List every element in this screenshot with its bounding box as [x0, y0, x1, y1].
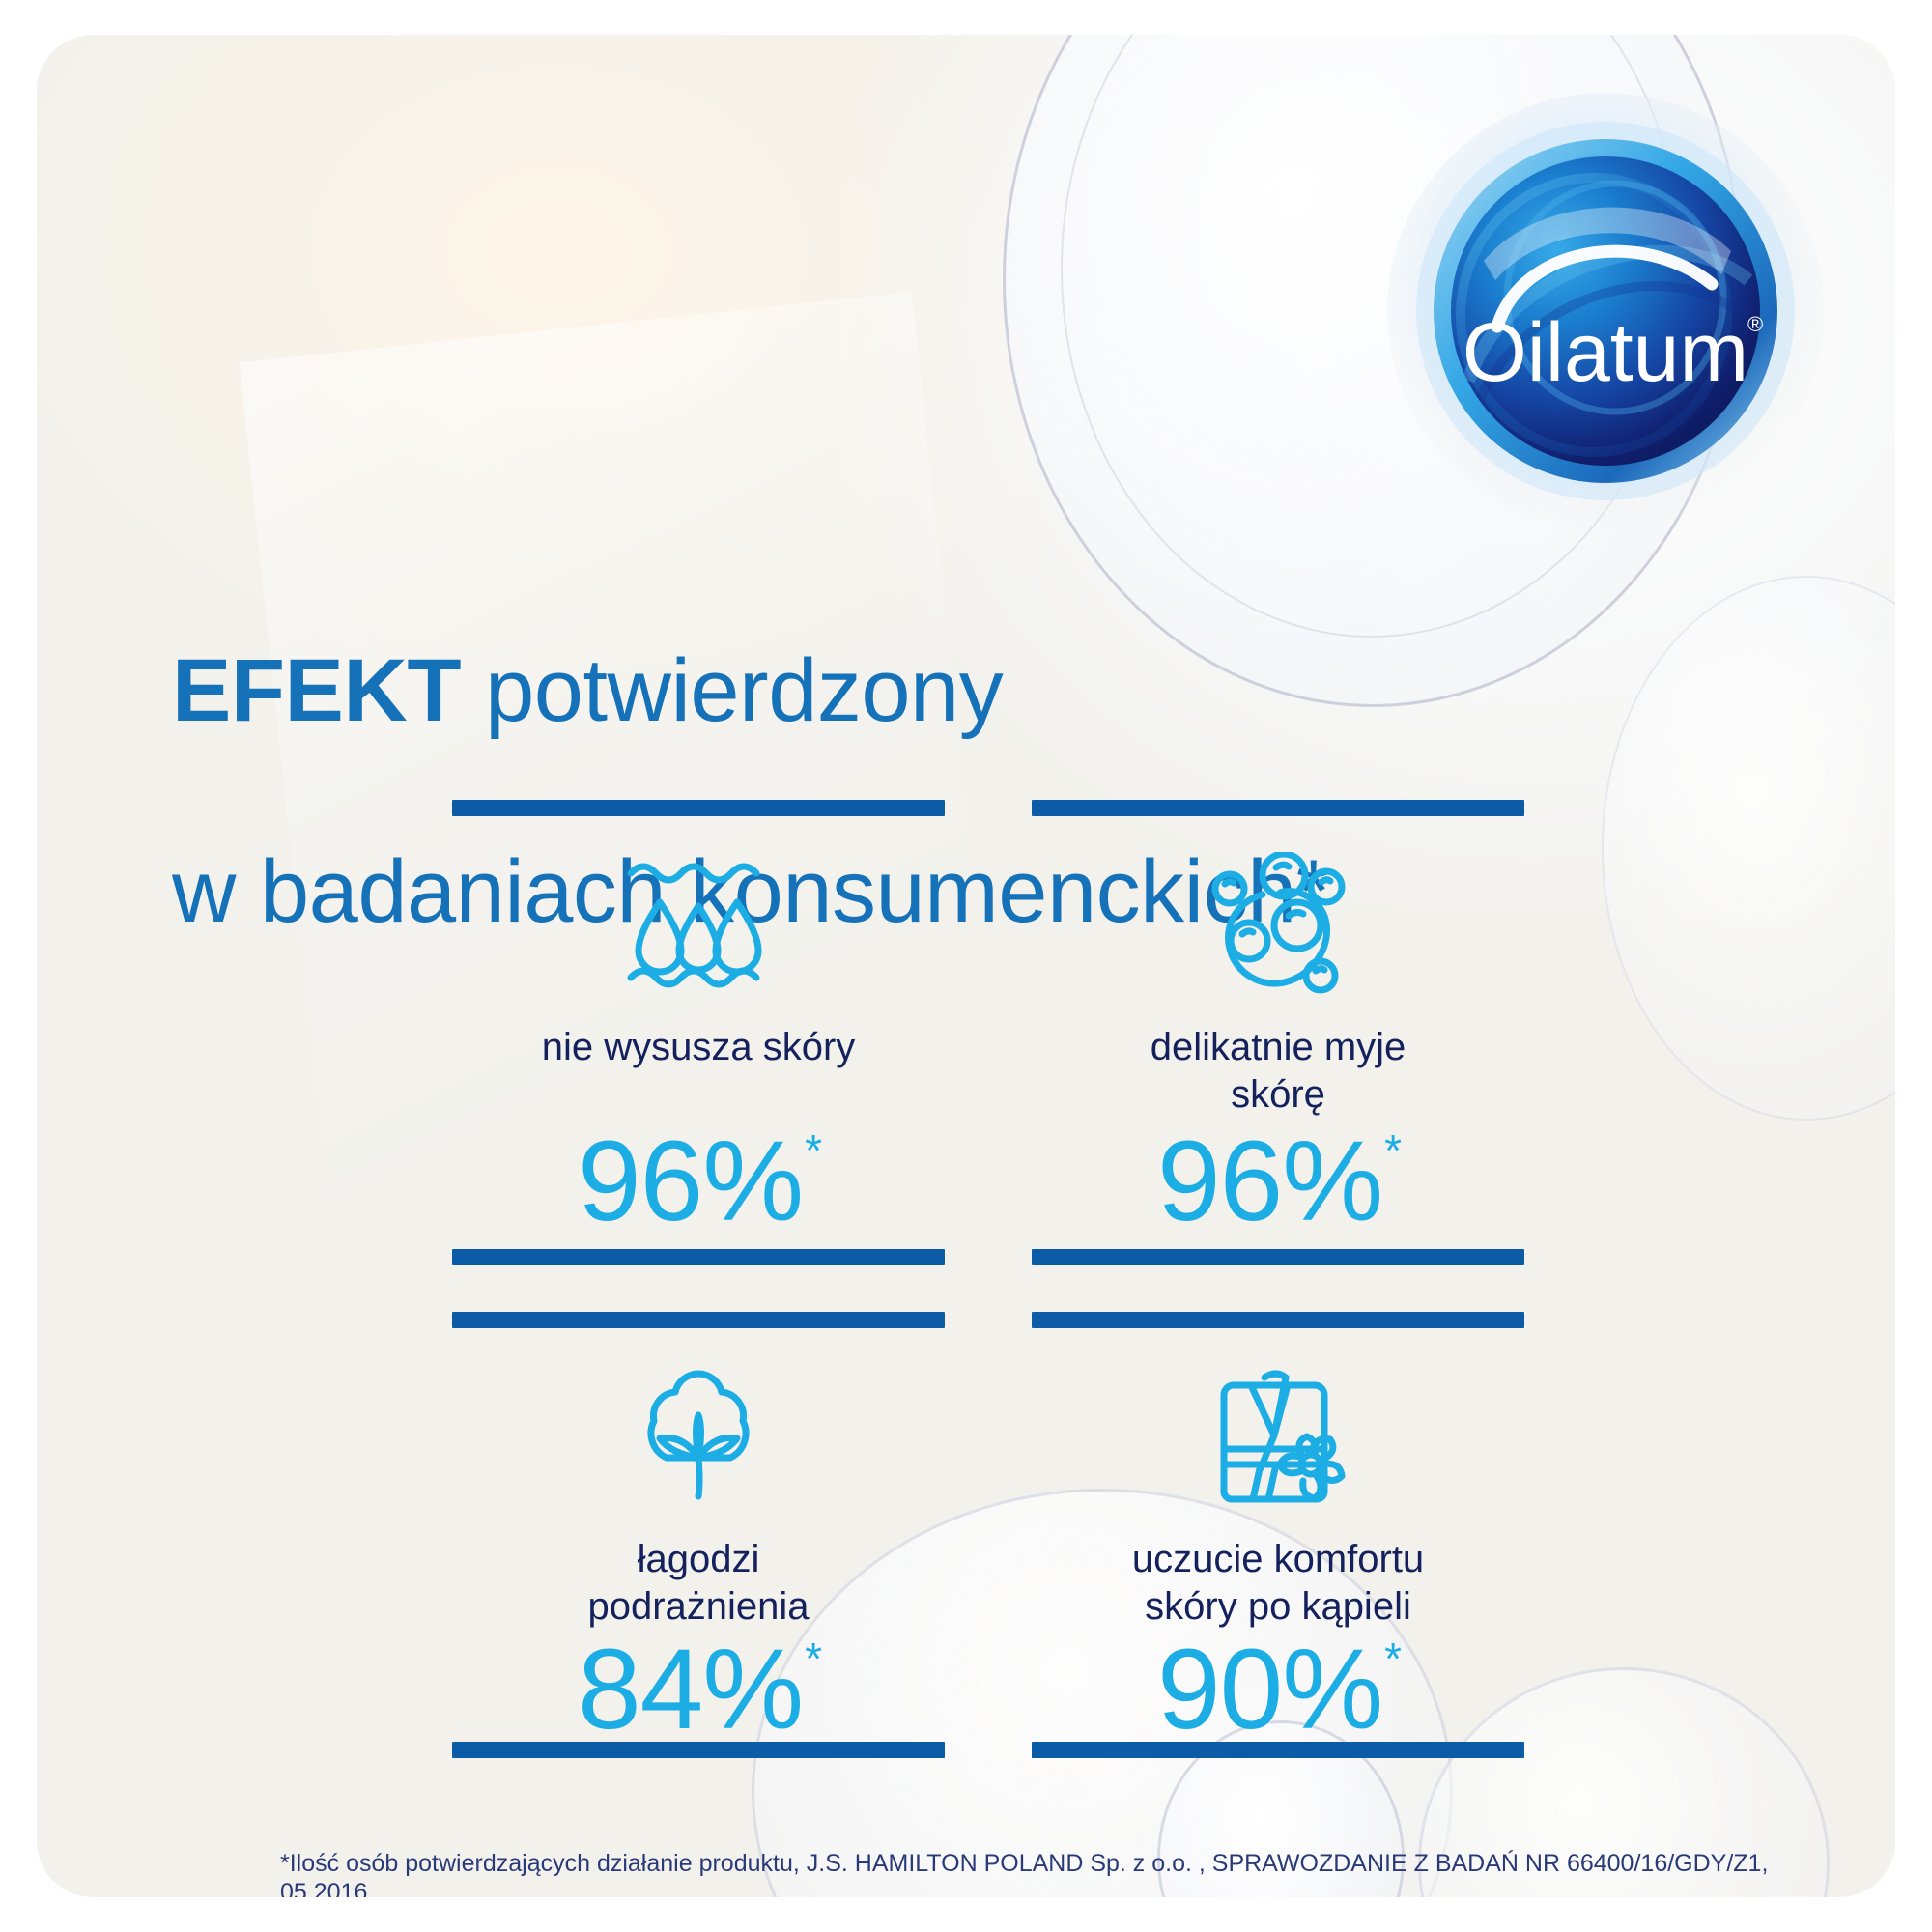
benefit-cell-gentle-wash: delikatnie myje skórę 96%* [1032, 800, 1524, 1244]
percent-value: 96% [578, 1118, 803, 1245]
headline-rest: potwierdzony [461, 641, 1003, 740]
logo-registered-mark: ® [1747, 312, 1763, 336]
bottle-ghost-mid-right [1602, 576, 1895, 1121]
benefit-percent: 84%* [578, 1633, 819, 1747]
benefit-label: delikatnie myje skórę [1151, 1024, 1406, 1119]
water-drops-icon [617, 852, 780, 999]
percent-value: 90% [1157, 1626, 1382, 1753]
benefit-label: uczucie komfortu skóry po kąpieli [1132, 1536, 1424, 1631]
study-footnote: *Ilość osób potwierdzających działanie p… [280, 1849, 1787, 1897]
infographic-card: Oilatum ® EFEKT potwierdzony w badaniach… [37, 35, 1895, 1897]
benefit-percent: 90%* [1157, 1633, 1399, 1747]
headline-strong: EFEKT [172, 641, 461, 740]
benefits-grid: nie wysusza skóry 96%* [452, 800, 1524, 1758]
divider-cell-0-bottom [452, 1249, 945, 1265]
divider-cell-1-bottom [1032, 1249, 1524, 1265]
benefit-cell-soothes-irritation: łagodzi podrażnienia 84%* [452, 1312, 945, 1756]
bathrobe-flower-icon [1201, 1364, 1355, 1511]
infographic-canvas: Oilatum ® EFEKT potwierdzony w badaniach… [0, 0, 1932, 1932]
benefit-label: łagodzi podrażnienia [587, 1536, 809, 1631]
benefit-cell-comfort-after-bath: uczucie komfortu skóry po kąpieli 90%* [1032, 1312, 1524, 1756]
percent-footnote-marker: * [805, 1634, 821, 1684]
percent-value: 84% [578, 1626, 803, 1753]
percent-footnote-marker: * [805, 1125, 821, 1176]
benefit-label: nie wysusza skóry [542, 1024, 856, 1071]
soap-bubbles-icon [1203, 852, 1353, 999]
benefit-percent: 96%* [1157, 1124, 1399, 1238]
percent-footnote-marker: * [1384, 1634, 1401, 1684]
cotton-flower-icon [621, 1364, 776, 1511]
logo-wordmark: Oilatum [1463, 306, 1748, 399]
percent-value: 96% [1157, 1118, 1382, 1245]
benefit-cell-no-drying: nie wysusza skóry 96%* [452, 800, 945, 1244]
percent-footnote-marker: * [1384, 1125, 1401, 1176]
benefit-percent: 96%* [578, 1124, 819, 1238]
oilatum-logo: Oilatum ® [1352, 91, 1864, 545]
